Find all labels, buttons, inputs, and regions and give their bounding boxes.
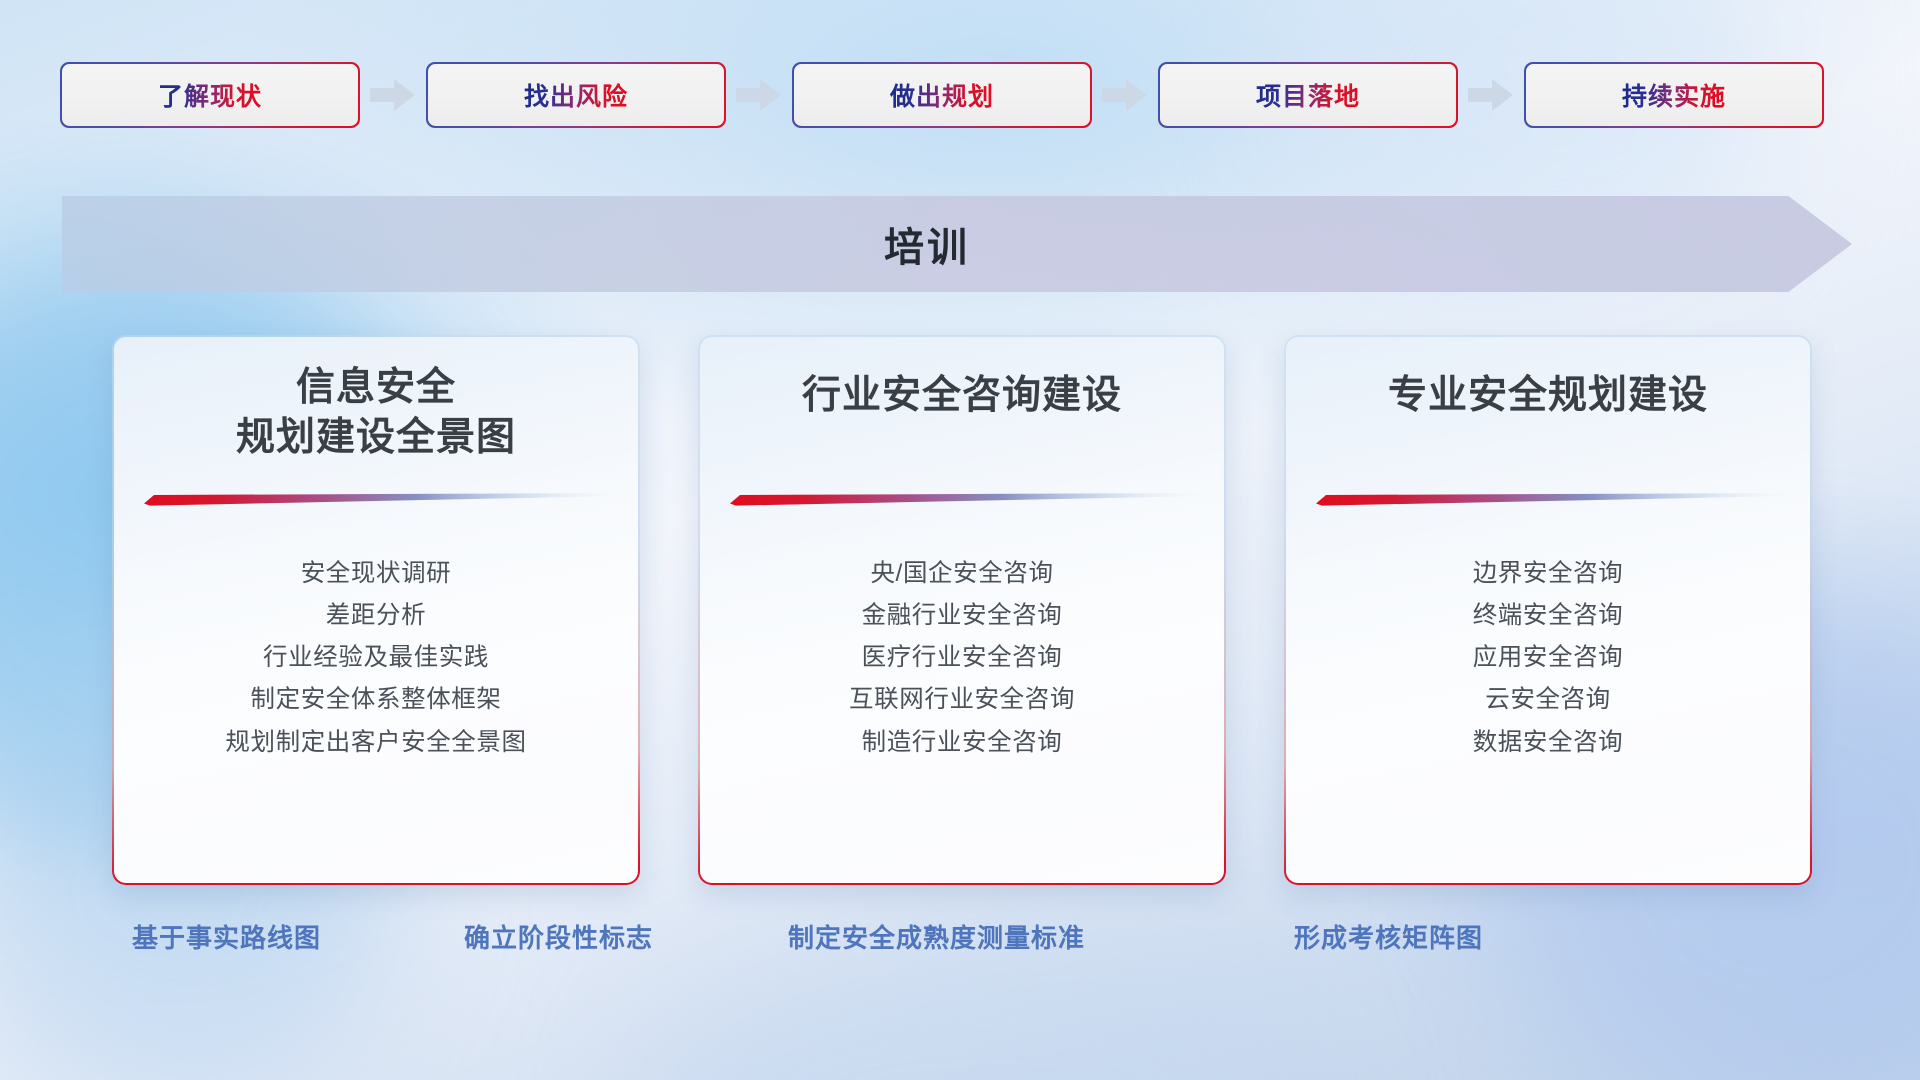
step-label-3: 做出规划 (890, 77, 994, 113)
step-label-1: 了解现状 (158, 77, 262, 113)
step-box-2[interactable]: 找出风险 (426, 62, 726, 128)
list-item: 制定安全体系整体框架 (114, 679, 638, 721)
list-item: 边界安全咨询 (1286, 553, 1810, 595)
banner-title: 培训 (62, 196, 1792, 292)
card-3-title-line1: 专业安全规划建设 (1286, 371, 1810, 421)
list-item: 安全现状调研 (114, 553, 638, 595)
step-box-2-inner: 找出风险 (428, 64, 725, 127)
list-item: 制造行业安全咨询 (700, 722, 1224, 764)
card-3-inner: 专业安全规划建设 (1286, 337, 1810, 883)
training-banner: 培训 (62, 196, 1852, 292)
card-2-list: 央/国企安全咨询 金融行业安全咨询 医疗行业安全咨询 互联网行业安全咨询 制造行… (700, 553, 1224, 764)
list-item: 医疗行业安全咨询 (700, 637, 1224, 679)
caption-row: 基于事实路线图 确立阶段性标志 制定安全成熟度测量标准 形成考核矩阵图 (0, 918, 1920, 962)
step-box-4[interactable]: 项目落地 (1158, 62, 1458, 128)
list-item: 差距分析 (114, 595, 638, 637)
card-2-divider (730, 492, 1198, 506)
card-1[interactable]: 信息安全 规划建设全景图 (112, 335, 640, 885)
list-item: 规划制定出客户安全全景图 (114, 722, 638, 764)
card-2-title: 行业安全咨询建设 (700, 371, 1224, 421)
card-2-title-line1: 行业安全咨询建设 (700, 371, 1224, 421)
card-3-title: 专业安全规划建设 (1286, 371, 1810, 421)
card-1-inner: 信息安全 规划建设全景图 (114, 337, 638, 883)
step-box-5-inner: 持续实施 (1526, 64, 1823, 127)
step-box-1-inner: 了解现状 (62, 64, 359, 127)
caption-2: 确立阶段性标志 (464, 918, 653, 955)
caption-4: 形成考核矩阵图 (1294, 918, 1483, 955)
step-label-4: 项目落地 (1256, 77, 1360, 113)
card-2[interactable]: 行业安全咨询建设 (698, 335, 1226, 885)
card-3[interactable]: 专业安全规划建设 (1284, 335, 1812, 885)
step-box-1[interactable]: 了解现状 (60, 62, 360, 128)
card-1-title-line1: 信息安全 (114, 363, 638, 413)
card-row: 信息安全 规划建设全景图 (112, 335, 1812, 885)
card-3-list: 边界安全咨询 终端安全咨询 应用安全咨询 云安全咨询 数据安全咨询 (1286, 553, 1810, 764)
card-2-inner: 行业安全咨询建设 (700, 337, 1224, 883)
slide-canvas: 了解现状 找出风险 做出规划 (0, 0, 1920, 1080)
step-label-2: 找出风险 (524, 77, 628, 113)
step-arrow-icon-4 (1458, 75, 1524, 115)
card-3-divider (1316, 492, 1784, 506)
list-item: 终端安全咨询 (1286, 595, 1810, 637)
card-1-list: 安全现状调研 差距分析 行业经验及最佳实践 制定安全体系整体框架 规划制定出客户… (114, 553, 638, 764)
card-1-divider (144, 492, 612, 506)
step-box-3-inner: 做出规划 (794, 64, 1091, 127)
step-label-5: 持续实施 (1622, 77, 1726, 113)
card-1-title: 信息安全 规划建设全景图 (114, 363, 638, 463)
card-1-title-line2: 规划建设全景图 (114, 413, 638, 463)
list-item: 数据安全咨询 (1286, 722, 1810, 764)
step-box-5[interactable]: 持续实施 (1524, 62, 1824, 128)
step-arrow-icon-2 (726, 75, 792, 115)
list-item: 应用安全咨询 (1286, 637, 1810, 679)
caption-3: 制定安全成熟度测量标准 (788, 918, 1085, 955)
list-item: 互联网行业安全咨询 (700, 679, 1224, 721)
step-box-3[interactable]: 做出规划 (792, 62, 1092, 128)
list-item: 金融行业安全咨询 (700, 595, 1224, 637)
step-box-4-inner: 项目落地 (1160, 64, 1457, 127)
step-arrow-icon-1 (360, 75, 426, 115)
step-arrow-icon-3 (1092, 75, 1158, 115)
list-item: 云安全咨询 (1286, 679, 1810, 721)
process-step-row: 了解现状 找出风险 做出规划 (60, 62, 1860, 128)
caption-1: 基于事实路线图 (132, 918, 321, 955)
list-item: 央/国企安全咨询 (700, 553, 1224, 595)
list-item: 行业经验及最佳实践 (114, 637, 638, 679)
